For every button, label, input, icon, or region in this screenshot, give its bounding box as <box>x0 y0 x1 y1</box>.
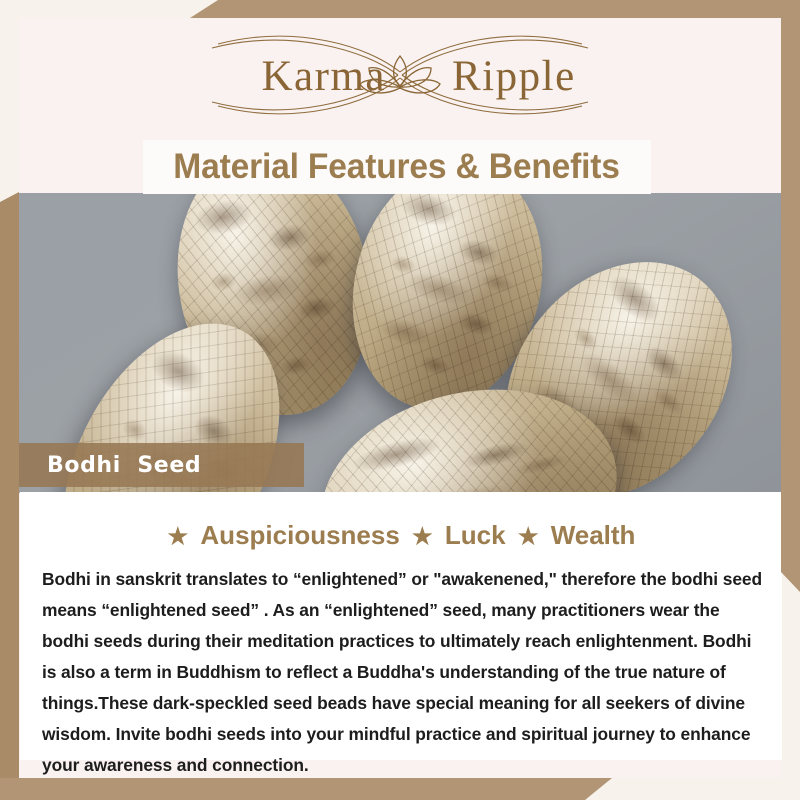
logo-word-left: Karma <box>262 53 387 100</box>
frame-bottom-bar <box>0 778 640 800</box>
poster-root: Karma Ripple Material Features & Benefit… <box>0 0 800 800</box>
page-title: Material Features & Benefits <box>174 147 621 187</box>
description-line: your awareness and connection. <box>42 750 764 781</box>
brand-logo: Karma Ripple <box>0 28 800 120</box>
logo-word-right: Ripple <box>452 53 576 100</box>
benefit-item-luck: Luck <box>445 520 506 550</box>
frame-right-bar <box>781 0 800 592</box>
logo-artwork: Karma Ripple <box>170 28 630 120</box>
benefit-item-auspiciousness: Auspiciousness <box>200 520 399 550</box>
photo-caption-label: Bodhi Seed <box>47 453 201 478</box>
star-icon: ★ <box>168 523 189 549</box>
description-line: means “enlightened seed” . As an “enligh… <box>42 595 764 626</box>
description-line: wisdom. Invite bodhi seeds into your min… <box>42 719 764 750</box>
benefits-line: ★ Auspiciousness ★ Luck ★ Wealth <box>20 520 782 551</box>
star-icon: ★ <box>412 523 433 549</box>
description-line: Bodhi in sanskrit translates to “enlight… <box>42 564 764 595</box>
description-text: Bodhi in sanskrit translates to “enlight… <box>42 564 764 781</box>
frame-top-bar <box>0 0 800 18</box>
photo-caption-band: Bodhi Seed <box>19 443 304 487</box>
star-icon: ★ <box>518 523 539 549</box>
description-panel: ★ Auspiciousness ★ Luck ★ Wealth Bodhi i… <box>20 492 782 760</box>
description-line: bodhi seeds during their meditation prac… <box>42 626 764 657</box>
section-title-band: Material Features & Benefits <box>143 140 651 194</box>
description-line: is also a term in Buddhism to reflect a … <box>42 657 764 688</box>
description-line: things.These dark-speckled seed beads ha… <box>42 688 764 719</box>
benefit-item-wealth: Wealth <box>551 520 636 550</box>
frame-left-bar <box>0 192 19 780</box>
